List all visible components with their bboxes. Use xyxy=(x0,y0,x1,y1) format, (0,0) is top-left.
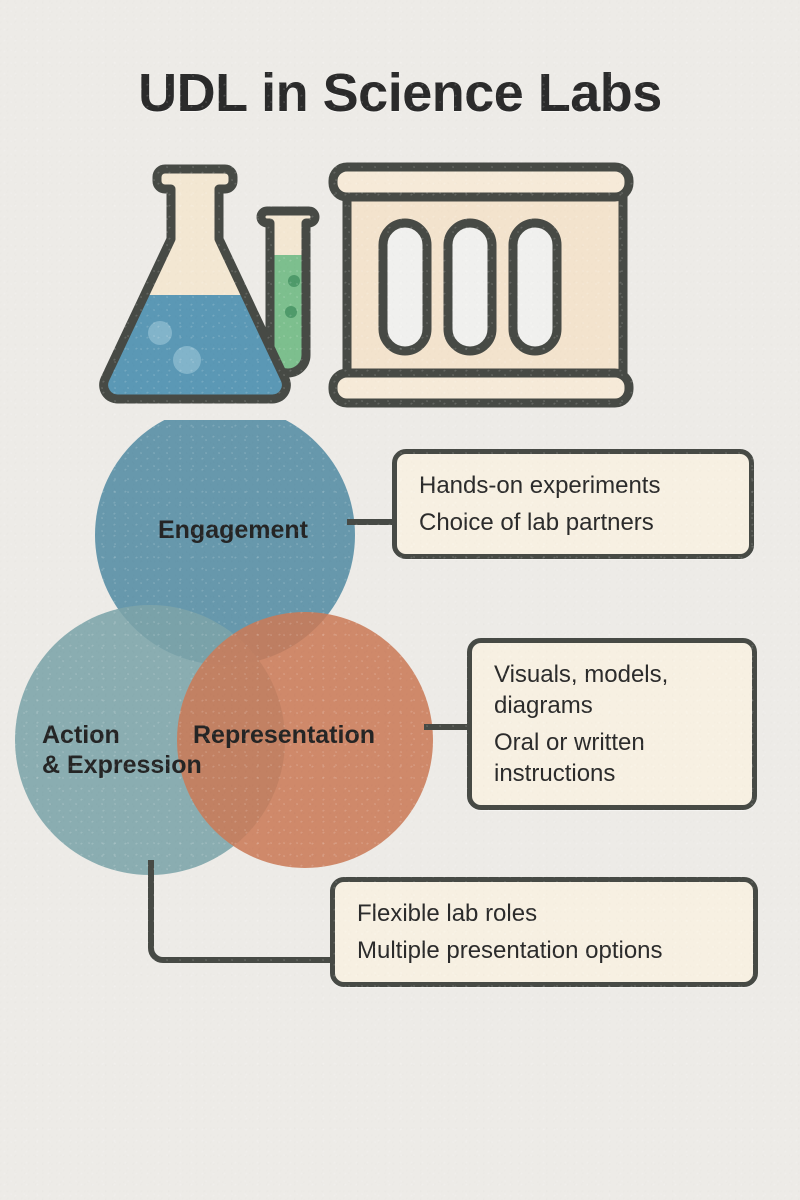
callout-line: Oral or written instructions xyxy=(494,727,730,789)
connector-engagement xyxy=(347,519,397,525)
callout-line: Multiple presentation options xyxy=(357,935,731,966)
science-lab-equipment-illustration xyxy=(95,155,635,420)
callout-representation[interactable]: Visuals, models, diagrams Oral or writte… xyxy=(467,638,757,810)
callout-engagement[interactable]: Hands-on experiments Choice of lab partn… xyxy=(392,449,754,559)
page-title: UDL in Science Labs xyxy=(0,62,800,124)
lab-illustration-svg xyxy=(95,155,635,415)
test-tube-rack xyxy=(333,167,629,403)
venn-label-representation: Representation xyxy=(193,720,433,750)
callout-line: Flexible lab roles xyxy=(357,898,731,929)
rack-slot-2 xyxy=(448,223,492,351)
rack-slot-3 xyxy=(513,223,557,351)
venn-label-engagement: Engagement xyxy=(128,515,338,545)
callout-action-expression[interactable]: Flexible lab roles Multiple presentation… xyxy=(330,877,758,987)
callout-line: Choice of lab partners xyxy=(419,507,727,538)
callout-line: Hands-on experiments xyxy=(419,470,727,501)
connector-action-expression xyxy=(130,860,350,970)
rack-slot-1 xyxy=(383,223,427,351)
callout-line: Visuals, models, diagrams xyxy=(494,659,730,721)
